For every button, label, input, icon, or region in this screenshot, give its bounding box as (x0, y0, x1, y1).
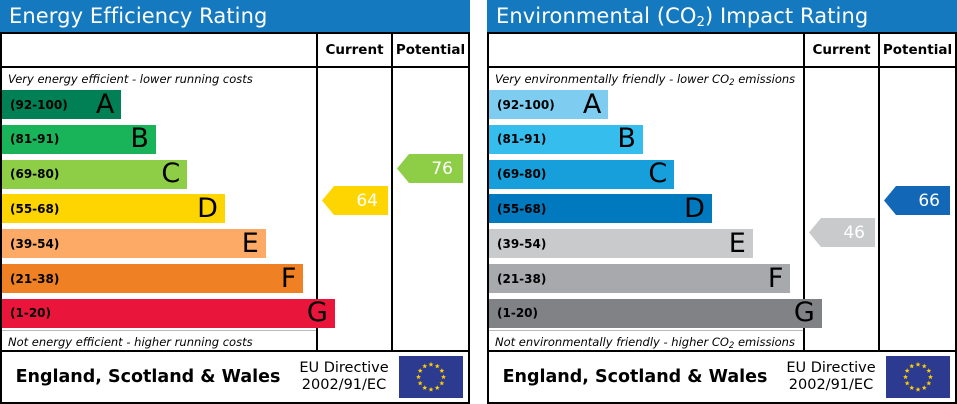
column-header-row: CurrentPotential (2, 34, 468, 68)
band-f: (21-38)F (489, 264, 790, 293)
header-potential: Potential (880, 34, 955, 66)
band-list: (92-100)A(81-91)B(69-80)C(55-68)D(39-54)… (2, 88, 316, 330)
potential-rating-value: 76 (431, 159, 453, 179)
rating-area: Very environmentally friendly - lower CO… (489, 68, 955, 350)
chart-title: Energy Efficiency Rating (0, 0, 470, 32)
band-a: (92-100)A (489, 90, 608, 119)
note-top: Very environmentally friendly - lower CO… (489, 68, 803, 88)
header-current: Current (805, 34, 880, 66)
band-letter: D (684, 195, 705, 222)
footer-region-label: England, Scotland & Wales (2, 352, 294, 402)
current-rating-arrow: 64 (322, 186, 388, 215)
current-value-column: 64 (318, 68, 393, 350)
header-current: Current (318, 34, 393, 66)
epc-chart-co2-impact: Environmental (CO2) Impact RatingCurrent… (487, 0, 957, 404)
current-rating-arrow: 46 (809, 218, 875, 247)
footer-row: England, Scotland & WalesEU Directive200… (2, 350, 468, 402)
epc-charts-page: Energy Efficiency RatingCurrentPotential… (0, 0, 957, 404)
band-letter: A (583, 90, 601, 117)
band-d: (55-68)D (489, 194, 712, 223)
potential-value-column: 66 (880, 68, 955, 350)
footer-flag-cell (881, 352, 955, 402)
footer-directive: EU Directive2002/91/EC (781, 352, 881, 402)
band-g: (1-20)G (2, 299, 335, 328)
eu-flag-stars (399, 356, 463, 398)
chart-body: CurrentPotentialVery environmentally fri… (487, 32, 957, 404)
band-letter: C (161, 160, 180, 187)
rating-area: Very energy efficient - lower running co… (2, 68, 468, 350)
band-range: (69-80) (489, 167, 546, 181)
band-list: (92-100)A(81-91)B(69-80)C(55-68)D(39-54)… (489, 88, 803, 330)
bands-column: Very energy efficient - lower running co… (2, 68, 318, 350)
potential-value-column: 76 (393, 68, 468, 350)
band-range: (21-38) (2, 272, 59, 286)
band-letter: D (197, 195, 218, 222)
band-c: (69-80)C (2, 160, 187, 189)
footer-flag-cell (394, 352, 468, 402)
header-blank-cell (489, 34, 805, 66)
bands-column: Very environmentally friendly - lower CO… (489, 68, 805, 350)
current-rating-value: 46 (843, 223, 865, 243)
footer-directive-line1: EU Directive (786, 360, 875, 377)
band-range: (92-100) (2, 98, 68, 112)
band-letter: B (130, 125, 149, 152)
band-range: (92-100) (489, 98, 555, 112)
band-letter: C (648, 160, 667, 187)
band-b: (81-91)B (489, 125, 643, 154)
band-e: (39-54)E (2, 229, 266, 258)
current-rating-value: 64 (356, 191, 378, 211)
chart-title-text: Environmental (CO (496, 4, 697, 28)
footer-directive-line1: EU Directive (299, 360, 388, 377)
band-range: (55-68) (489, 202, 546, 216)
chart-title: Environmental (CO2) Impact Rating (487, 0, 957, 32)
epc-chart-energy-efficiency: Energy Efficiency RatingCurrentPotential… (0, 0, 470, 404)
band-range: (81-91) (489, 132, 546, 146)
band-a: (92-100)A (2, 90, 121, 119)
eu-flag-icon (399, 356, 463, 398)
potential-rating-value: 66 (918, 191, 940, 211)
band-range: (69-80) (2, 167, 59, 181)
band-c: (69-80)C (489, 160, 674, 189)
band-range: (1-20) (489, 306, 538, 320)
band-b: (81-91)B (2, 125, 156, 154)
footer-region-label: England, Scotland & Wales (489, 352, 781, 402)
footer-directive: EU Directive2002/91/EC (294, 352, 394, 402)
note-bottom: Not energy efficient - higher running co… (2, 330, 316, 350)
chart-title-subscript: 2 (697, 15, 705, 30)
band-letter: B (617, 125, 636, 152)
band-d: (55-68)D (2, 194, 225, 223)
current-value-column: 46 (805, 68, 880, 350)
band-g: (1-20)G (489, 299, 822, 328)
band-range: (1-20) (2, 306, 51, 320)
note-top: Very energy efficient - lower running co… (2, 68, 316, 88)
band-letter: A (96, 90, 114, 117)
footer-directive-line2: 2002/91/EC (789, 377, 873, 394)
band-letter: E (729, 230, 746, 257)
footer-row: England, Scotland & WalesEU Directive200… (489, 350, 955, 402)
band-f: (21-38)F (2, 264, 303, 293)
band-e: (39-54)E (489, 229, 753, 258)
eu-flag-stars (886, 356, 950, 398)
band-range: (39-54) (2, 237, 59, 251)
chart-body: CurrentPotentialVery energy efficient - … (0, 32, 470, 404)
band-range: (21-38) (489, 272, 546, 286)
band-range: (39-54) (489, 237, 546, 251)
band-letter: E (242, 230, 259, 257)
column-header-row: CurrentPotential (489, 34, 955, 68)
potential-rating-arrow: 66 (884, 186, 950, 215)
header-potential: Potential (393, 34, 468, 66)
header-blank-cell (2, 34, 318, 66)
note-bottom: Not environmentally friendly - higher CO… (489, 330, 803, 350)
band-range: (55-68) (2, 202, 59, 216)
band-letter: F (768, 265, 784, 292)
potential-rating-arrow: 76 (397, 154, 463, 183)
eu-flag-icon (886, 356, 950, 398)
band-letter: F (281, 265, 297, 292)
chart-title-suffix: ) Impact Rating (705, 4, 868, 28)
band-range: (81-91) (2, 132, 59, 146)
footer-directive-line2: 2002/91/EC (302, 377, 386, 394)
